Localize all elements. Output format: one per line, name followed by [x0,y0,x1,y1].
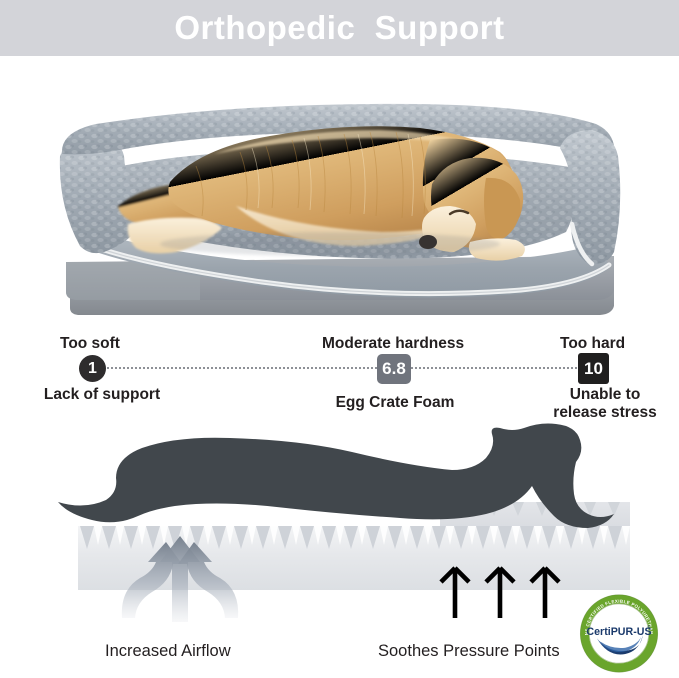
scale-label-too-soft: Too soft [60,335,120,353]
scale-marker-10: 10 [578,353,609,384]
logo-brand-text: CertiPUR-US [586,626,651,638]
scale-label-moderate: Moderate hardness [322,335,464,353]
scale-sublabel-egg-crate-foam: Egg Crate Foam [330,394,460,412]
scale-track-line [100,367,592,371]
scale-label-too-hard: Too hard [560,335,625,353]
caption-soothes-pressure-points: Soothes Pressure Points [378,642,560,661]
product-photo [0,56,679,328]
certipur-us-logo: CONTAINS CERTIFIED FLEXIBLE POLYURETHANE… [578,594,660,673]
scale-marker-6-8: 6.8 [377,354,411,384]
dog-bed-illustration [0,56,679,328]
scale-sublabel-unable-to-release-stress: Unable to release stress [540,386,670,422]
caption-increased-airflow: Increased Airflow [105,642,231,661]
scale-sublabel-lack-of-support: Lack of support [22,386,182,404]
hardness-scale: Too soft Moderate hardness Too hard 1 6.… [0,0,679,92]
scale-marker-1: 1 [79,355,106,382]
logo-registered-mark: ® [647,624,650,629]
